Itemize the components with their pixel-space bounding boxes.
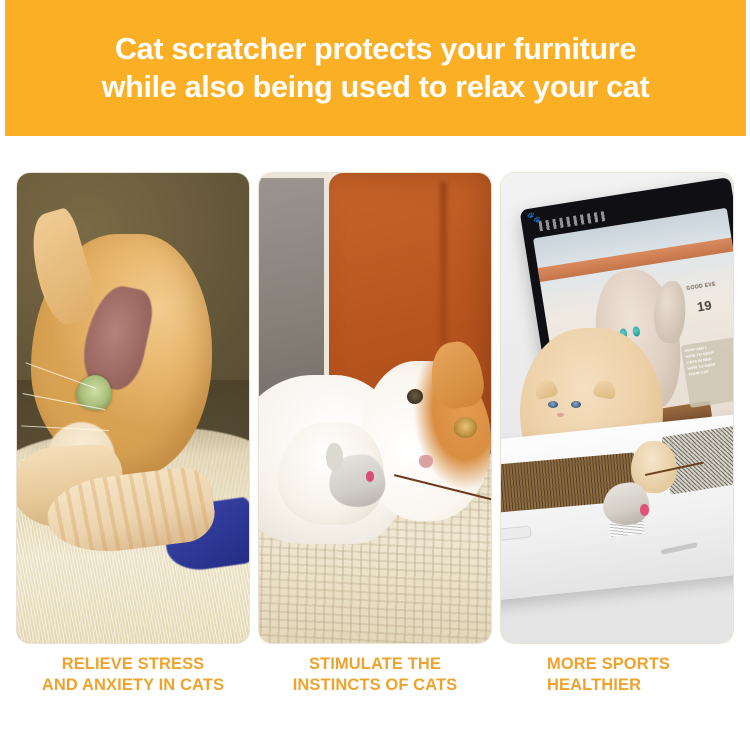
panel-3-box-slot bbox=[661, 542, 698, 554]
header-banner: Cat scratcher protects your furniture wh… bbox=[5, 0, 746, 136]
panel-3-photo: 🐾 GOOD EVE 19 HOW CAN I HOW TO KEEP bbox=[501, 173, 733, 643]
caption-3-line-2: HEALTHIER bbox=[547, 675, 733, 696]
caption-1-line-1: RELIEVE STRESS bbox=[17, 654, 249, 675]
caption-2-line-1: STIMULATE THE bbox=[259, 654, 491, 675]
panel-2-photo bbox=[259, 173, 491, 643]
feature-panel-1 bbox=[17, 173, 249, 643]
caption-panel-2: STIMULATE THE INSTINCTS OF CATS bbox=[259, 654, 491, 696]
caption-panel-1: RELIEVE STRESS AND ANXIETY IN CATS bbox=[17, 654, 249, 696]
header-title-line-1: Cat scratcher protects your furniture bbox=[115, 30, 636, 68]
panel-3-kitten-nose bbox=[557, 413, 564, 417]
caption-2-line-2: INSTINCTS OF CATS bbox=[259, 675, 491, 696]
panel-3-screen-info-card: HOW CAN I HOW TO KEEP CATS IN BED HOW TO… bbox=[681, 336, 733, 408]
caption-3-line-1: MORE SPORTS bbox=[547, 654, 733, 675]
feature-panel-2 bbox=[259, 173, 491, 643]
panel-2-toy-mouse-ear bbox=[326, 443, 342, 471]
panel-3-kitten-ear-left bbox=[534, 378, 559, 400]
panel-3-kitten-eye-right bbox=[571, 401, 581, 408]
caption-1-line-2: AND ANXIETY IN CATS bbox=[17, 675, 249, 696]
panel-3-screen-greeting: GOOD EVE bbox=[668, 279, 733, 295]
panel-3-screen-cat-eye-right bbox=[632, 326, 641, 337]
feature-panel-3: 🐾 GOOD EVE 19 HOW CAN I HOW TO KEEP bbox=[501, 173, 733, 643]
header-title-line-2: while also being used to relax your cat bbox=[102, 68, 650, 106]
feature-panel-row: 🐾 GOOD EVE 19 HOW CAN I HOW TO KEEP bbox=[0, 173, 750, 643]
panel-3-kitten-ear-right bbox=[593, 378, 618, 399]
caption-row: RELIEVE STRESS AND ANXIETY IN CATS STIMU… bbox=[0, 654, 750, 714]
panel-2-toy-mouse-nose bbox=[366, 471, 374, 481]
panel-3-box-handle bbox=[501, 526, 531, 542]
panel-3-kitten-eye-left bbox=[548, 401, 558, 408]
caption-panel-3: MORE SPORTS HEALTHIER bbox=[501, 654, 733, 696]
panel-1-photo bbox=[17, 173, 249, 643]
